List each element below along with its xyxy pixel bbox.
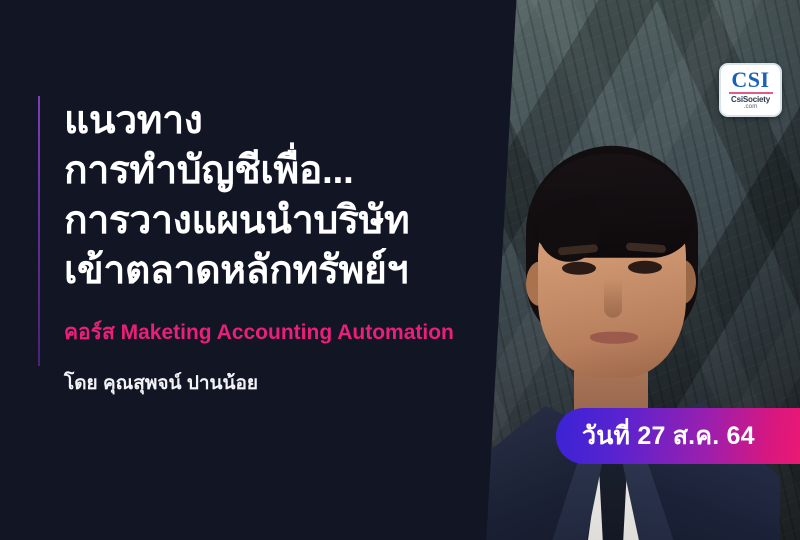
course-name: คอร์ส Maketing Accounting Automation (64, 296, 494, 346)
vertical-accent-rule (38, 96, 40, 366)
speaker-portrait-image (462, 134, 762, 540)
portrait-eye-right (628, 261, 662, 274)
csi-logo-name: CsiSociety (731, 95, 770, 104)
csi-logo: CSI CsiSociety .com (719, 63, 782, 117)
portrait-eye-left (562, 262, 596, 275)
date-badge-label: วันที่ 27 ส.ค. 64 (582, 416, 755, 456)
headline-line-2: การทำบัญชีเพื่อ... (64, 146, 494, 196)
portrait-nose (604, 280, 622, 318)
csi-logo-mark: CSI (731, 69, 769, 91)
portrait-mouth (590, 332, 638, 344)
content-block: แนวทาง การทำบัญชีเพื่อ... การวางแผนนำบริ… (64, 96, 494, 396)
date-badge: วันที่ 27 ส.ค. 64 (556, 408, 800, 464)
promo-poster: แนวทาง การทำบัญชีเพื่อ... การวางแผนนำบริ… (0, 0, 800, 540)
headline-line-4: เข้าตลาดหลักทรัพย์ฯ (64, 246, 494, 296)
page-title: แนวทาง การทำบัญชีเพื่อ... การวางแผนนำบริ… (64, 96, 494, 296)
speaker-name: โดย คุณสุพจน์ ปานน้อย (64, 346, 494, 396)
headline-line-3: การวางแผนนำบริษัท (64, 196, 494, 246)
csi-logo-divider (729, 92, 773, 94)
headline-line-1: แนวทาง (64, 96, 494, 146)
csi-logo-tld: .com (744, 104, 758, 111)
